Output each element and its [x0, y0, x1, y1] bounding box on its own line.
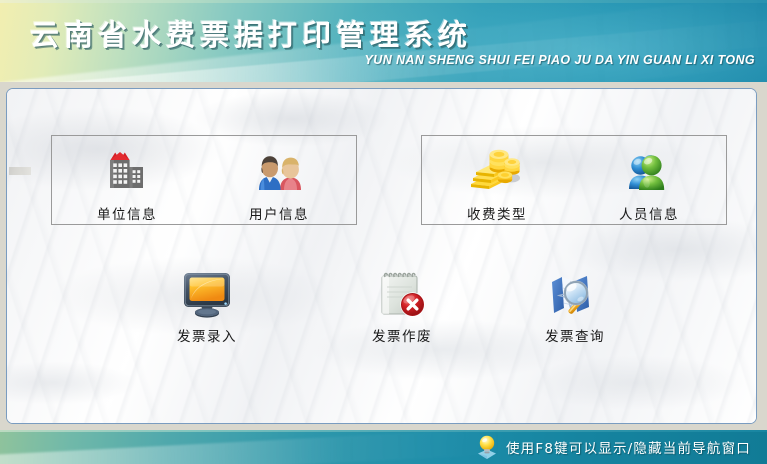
- panel-corner-artifact: [9, 167, 31, 175]
- status-bar-shine: [0, 430, 507, 464]
- notepad-delete-icon: [338, 267, 466, 321]
- nav-button-label: 单位信息: [63, 203, 191, 223]
- app-header: 云南省水费票据打印管理系统 YUN NAN SHENG SHUI FEI PIA…: [0, 0, 767, 82]
- two-users-icon: [215, 145, 343, 199]
- app-title-pinyin: YUN NAN SHENG SHUI FEI PIAO JU DA YIN GU…: [365, 53, 755, 67]
- app-title: 云南省水费票据打印管理系统: [30, 12, 472, 54]
- nav-button-label: 用户信息: [215, 203, 343, 223]
- nav-button-label: 人员信息: [585, 203, 713, 223]
- header-top-edge: [0, 0, 767, 3]
- map-magnifier-icon: [511, 267, 639, 321]
- nav-button-label: 发票作废: [338, 325, 466, 345]
- gold-coins-icon: [433, 145, 561, 199]
- nav-button-invoice-query[interactable]: 发票查询: [511, 267, 639, 345]
- nav-button-invoice-entry[interactable]: 发票录入: [143, 267, 271, 345]
- status-bar: 使用F8键可以显示/隐藏当前导航窗口: [0, 430, 767, 464]
- nav-button-label: 发票查询: [511, 325, 639, 345]
- navigation-window: 单位信息: [0, 82, 767, 430]
- monitor-icon: [143, 267, 271, 321]
- nav-button-invoice-void[interactable]: 发票作废: [338, 267, 466, 345]
- lightbulb-icon: [476, 434, 498, 460]
- navigation-panel: 单位信息: [6, 88, 757, 424]
- nav-button-staff-info[interactable]: 人员信息: [585, 145, 713, 223]
- nav-button-label: 发票录入: [143, 325, 271, 345]
- nav-button-label: 收费类型: [433, 203, 561, 223]
- building-icon: [63, 145, 191, 199]
- people-avatars-icon: [585, 145, 713, 199]
- nav-button-fee-type[interactable]: 收费类型: [433, 145, 561, 223]
- status-bar-hint: 使用F8键可以显示/隐藏当前导航窗口: [506, 437, 751, 457]
- nav-button-user-info[interactable]: 用户信息: [215, 145, 343, 223]
- nav-button-unit-info[interactable]: 单位信息: [63, 145, 191, 223]
